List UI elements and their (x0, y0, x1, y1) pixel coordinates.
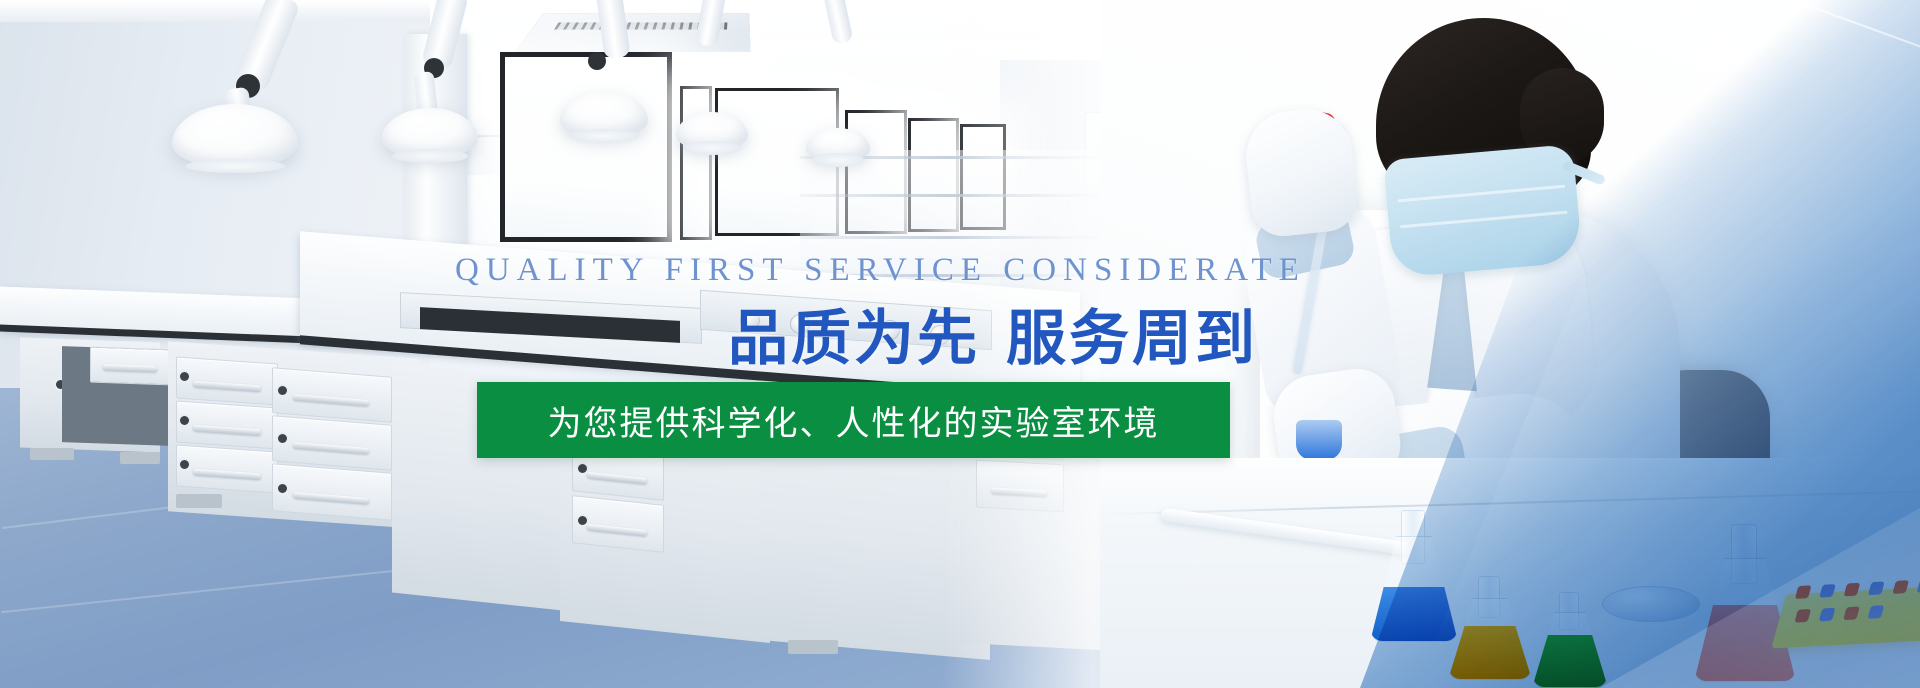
hero-banner: QUALITY FIRST SERVICE CONSIDERATE 品质为先服务… (0, 0, 1920, 688)
headline-part-right: 服务周到 (1006, 305, 1258, 372)
eyebrow-tagline-en: QUALITY FIRST SERVICE CONSIDERATE (455, 252, 1306, 289)
banner-text-layer: QUALITY FIRST SERVICE CONSIDERATE 品质为先服务… (0, 0, 1920, 688)
headline: 品质为先服务周到 (728, 290, 1258, 377)
headline-part-left: 品质为先 (728, 305, 980, 372)
subhead-text: 为您提供科学化、人性化的实验室环境 (548, 396, 1160, 445)
subhead-green-bar: 为您提供科学化、人性化的实验室环境 (477, 382, 1230, 458)
